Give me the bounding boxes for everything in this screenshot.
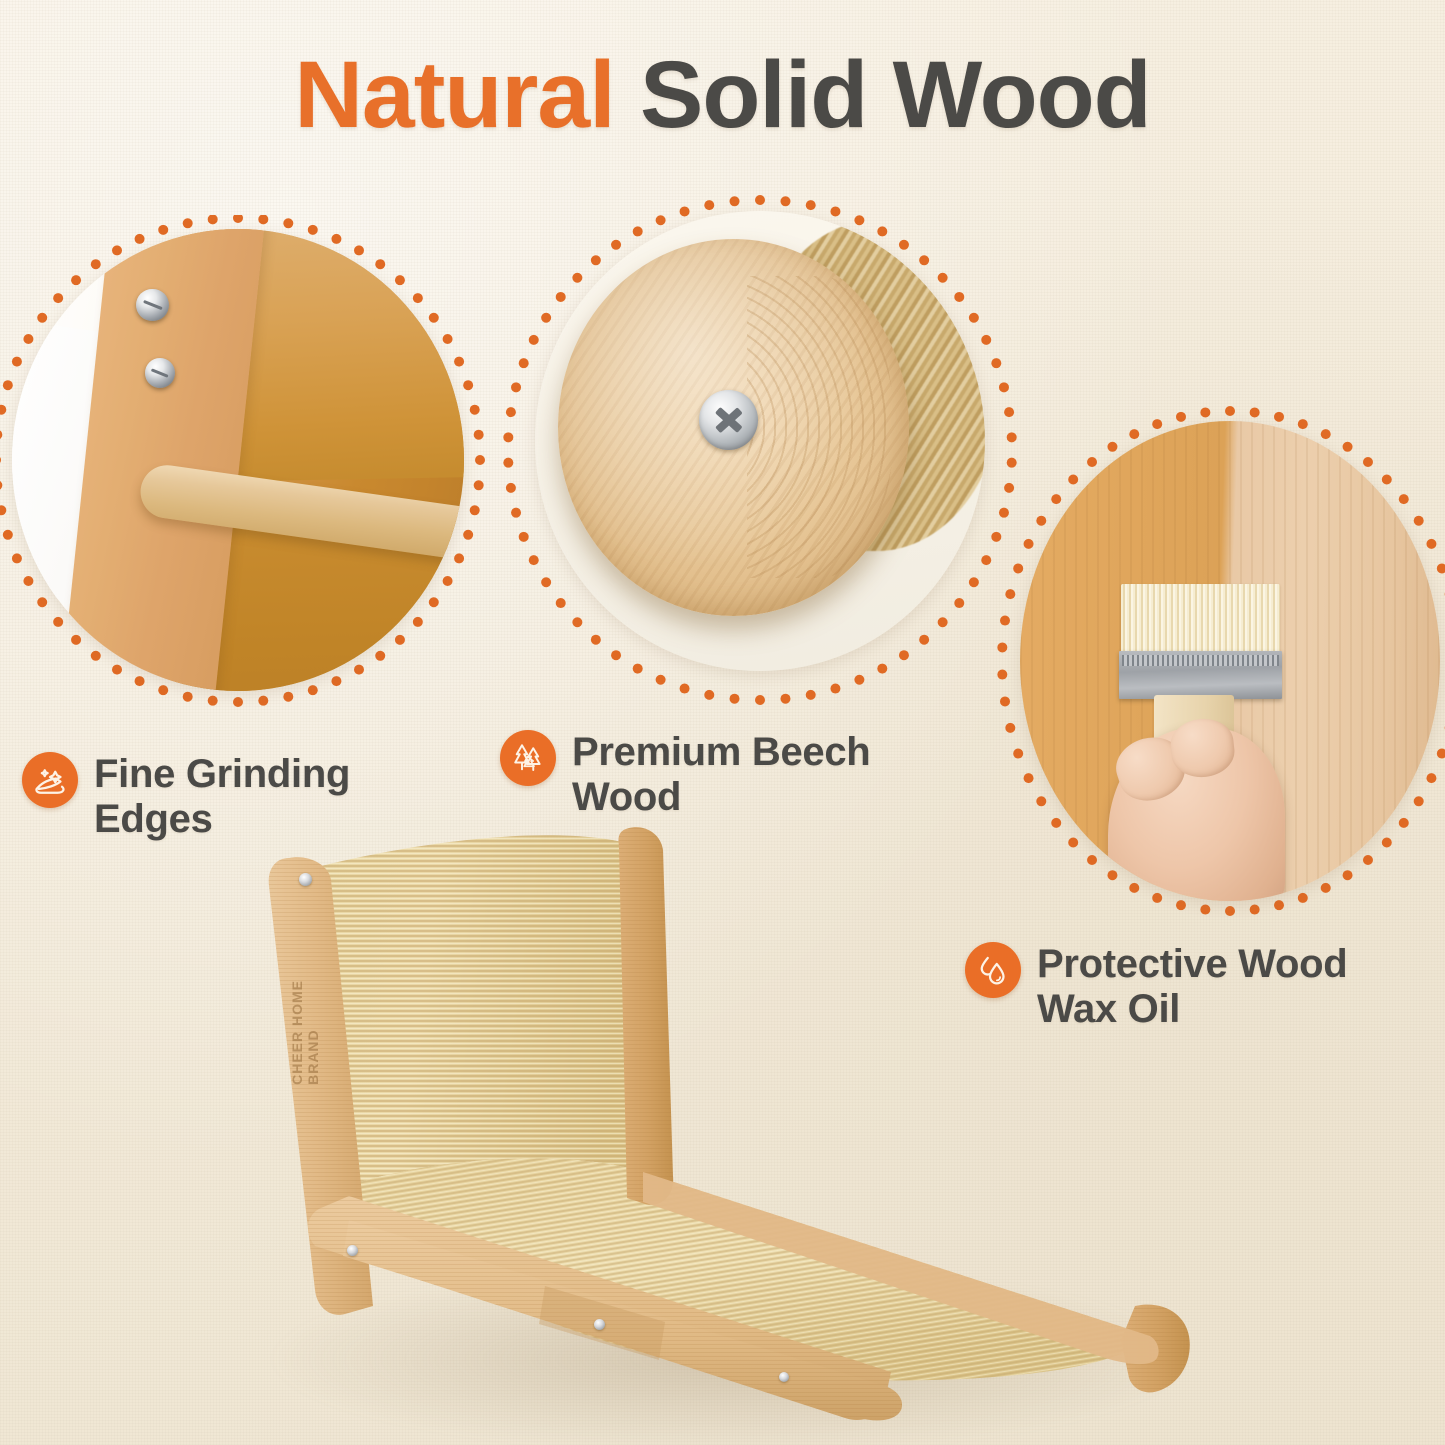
product-photo-cat-scratcher: CHEER HOME BRAND <box>245 820 1215 1440</box>
product-screw-front-rail <box>779 1372 789 1382</box>
feature-row-premium-beech-wood: Premium Beech Wood <box>500 730 960 820</box>
page-title: Natural Solid Wood <box>0 46 1445 146</box>
product-illustration <box>245 820 1215 1440</box>
feature-photo-1-grinding-edges <box>0 215 490 715</box>
feature-photo-2-beech-wood <box>495 185 1025 715</box>
phillips-screw-icon <box>699 390 758 450</box>
brush-ferrule-icon <box>1119 651 1283 699</box>
brush-bristles-icon <box>1121 584 1281 656</box>
infographic-canvas: Natural Solid Wood <box>0 0 1445 1445</box>
photo-beech-end-cap <box>535 211 985 671</box>
feature-label-premium-beech-wood: Premium Beech Wood <box>572 730 960 820</box>
pine-trees-icon <box>500 730 556 786</box>
product-screw-bottom-left <box>347 1245 358 1256</box>
polish-sparkle-icon <box>22 752 78 808</box>
photo-grinding-edges <box>12 229 464 691</box>
product-screw-top-left <box>299 873 312 886</box>
product-brandmark: CHEER HOME BRAND <box>289 980 321 1085</box>
title-accent-word: Natural <box>294 42 614 148</box>
screw-lower-icon <box>145 358 175 388</box>
title-rest-words: Solid Wood <box>640 42 1151 148</box>
screw-upper-icon <box>136 289 169 321</box>
